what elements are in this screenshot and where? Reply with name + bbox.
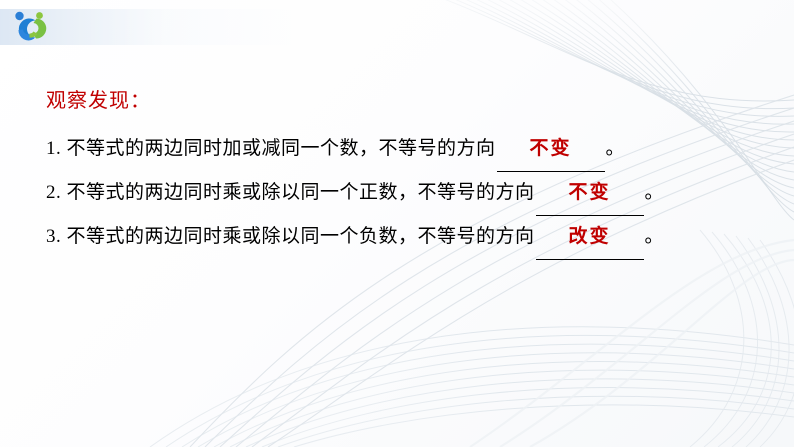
statement-text-1: 不等式的两边同时加或减同一个数，不等号的方向 [67,138,496,159]
answer-blank-3: 改变 [536,216,644,260]
statement-row-3: 3. 不等式的两边同时乘或除以同一个负数，不等号的方向改变。 [46,216,766,260]
statement-row-2: 2. 不等式的两边同时乘或除以同一个正数，不等号的方向不变。 [46,172,766,216]
statement-tail-1: 。 [606,138,626,159]
people-circle-logo-icon [12,9,48,43]
answer-blank-2: 不变 [536,172,644,216]
logo-blue-dot [15,12,23,20]
answer-blank-1: 不变 [497,128,605,172]
statement-number-2: 2. [46,182,61,203]
statement-text-2: 不等式的两边同时乘或除以同一个正数，不等号的方向 [67,182,535,203]
logo-green-dot [36,12,43,19]
statement-row-1: 1. 不等式的两边同时加或减同一个数，不等号的方向不变。 [46,128,766,172]
slide-content: 观察发现： 1. 不等式的两边同时加或减同一个数，不等号的方向不变。 2. 不等… [46,88,766,260]
page-title: 观察发现： [46,88,766,114]
slide-canvas: 观察发现： 1. 不等式的两边同时加或减同一个数，不等号的方向不变。 2. 不等… [0,0,794,447]
statement-text-3: 不等式的两边同时乘或除以同一个负数，不等号的方向 [67,226,535,247]
statement-number-1: 1. [46,138,61,159]
statement-tail-2: 。 [645,182,665,203]
statement-number-3: 3. [46,226,61,247]
statement-tail-3: 。 [645,226,665,247]
